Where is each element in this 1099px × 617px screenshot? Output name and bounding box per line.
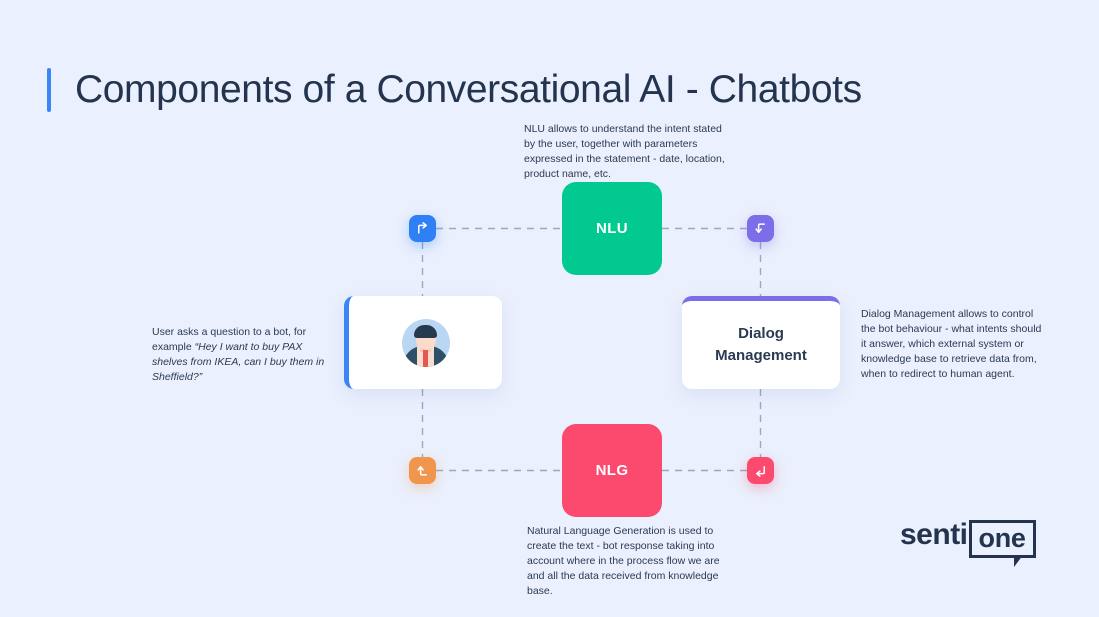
node-nlg[interactable]: NLG (562, 424, 662, 517)
node-user[interactable] (344, 296, 502, 389)
arrow-turn-up-icon[interactable] (409, 457, 436, 484)
caption-nlg: Natural Language Generation is used to c… (527, 524, 727, 599)
logo-text-senti: senti (900, 520, 968, 550)
caption-user: User asks a question to a bot, for examp… (152, 325, 332, 385)
node-nlu[interactable]: NLU (562, 182, 662, 275)
arrow-turn-right-icon[interactable] (409, 215, 436, 242)
logo-text-one: one (979, 525, 1026, 552)
arrow-turn-left-icon[interactable] (747, 457, 774, 484)
user-avatar-icon (402, 319, 450, 367)
logo-speech-bubble-icon: one (969, 520, 1036, 558)
caption-dialog-management: Dialog Management allows to control the … (861, 307, 1043, 382)
node-nlu-label: NLU (596, 220, 628, 237)
node-dialog-management[interactable]: Dialog Management (682, 296, 840, 389)
node-dialog-label: Dialog Management (715, 323, 807, 367)
node-dialog-label-line2: Management (715, 345, 807, 367)
caption-nlu: NLU allows to understand the intent stat… (524, 122, 729, 182)
node-dialog-label-line1: Dialog (715, 323, 807, 345)
arrow-turn-down-icon[interactable] (747, 215, 774, 242)
node-nlg-label: NLG (596, 462, 629, 479)
sentione-logo: senti one (900, 520, 1036, 558)
logo-bubble-tail (1014, 555, 1023, 567)
